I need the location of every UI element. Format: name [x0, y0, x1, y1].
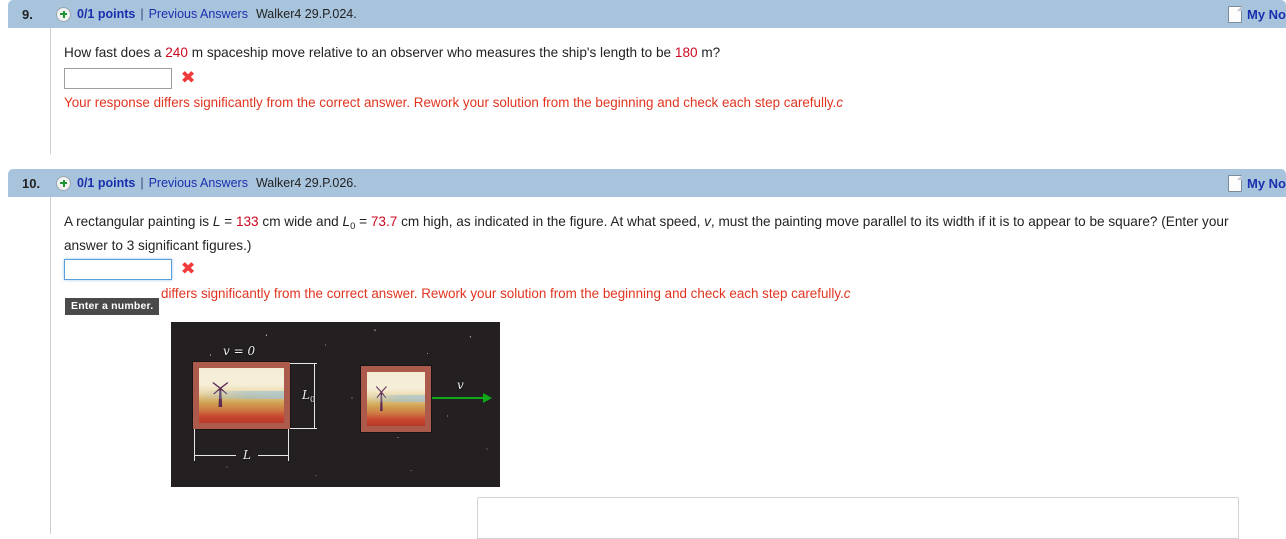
width-dim-left-tick — [194, 429, 195, 461]
incorrect-x-icon-10: ✖ — [181, 261, 196, 278]
prompt-9-part3: m? — [698, 45, 721, 60]
prompt-10-sym2: L — [343, 214, 351, 229]
figure-label-height: L0 — [302, 388, 315, 404]
velocity-arrow-head — [483, 393, 492, 403]
prompt-9-value1: 240 — [165, 45, 188, 60]
height-dim-bottom-tick — [290, 428, 317, 429]
my-notes-label-10: My Notes — [1247, 176, 1286, 191]
question-9-prompt: How fast does a 240 m spaceship move rel… — [51, 28, 1274, 63]
question-9-error-message: Your response differs significantly from… — [51, 89, 1286, 113]
note-icon — [1228, 6, 1242, 23]
prompt-10-value2: 73.7 — [371, 214, 397, 229]
figure-painting-at-rest — [193, 362, 290, 429]
error-9-suffix: c — [836, 95, 843, 110]
question-9-book-reference: Walker4 29.P.024. — [256, 7, 357, 21]
prompt-10-value1: 133 — [236, 214, 259, 229]
question-10-header: 10. 0/1 points | Previous Answers Walker… — [8, 169, 1286, 197]
width-dim-right-tick — [288, 429, 289, 461]
answer-input-9[interactable] — [64, 68, 172, 89]
question-10-figure: v = 0 — [51, 304, 1286, 487]
figure-label-rest: v = 0 — [223, 344, 255, 358]
prompt-10-part2: cm wide and — [259, 214, 343, 229]
my-notes-label-9: My Notes — [1247, 7, 1286, 22]
question-10-answer-row: ✖ — [51, 256, 1286, 280]
question-9-answer-row: ✖ — [51, 63, 1286, 89]
prompt-10-sym3: v — [704, 214, 711, 229]
previous-answers-link-10[interactable]: Previous Answers — [149, 176, 248, 190]
question-10-number: 10. — [22, 176, 52, 191]
prompt-10-eq1: = — [220, 214, 236, 229]
prompt-10-eq2: = — [355, 214, 371, 229]
expand-plus-icon[interactable] — [56, 7, 71, 22]
question-10-prompt: A rectangular painting is L = 133 cm wid… — [51, 197, 1274, 256]
question-9-body: How fast does a 240 m spaceship move rel… — [50, 28, 1286, 154]
error-10-suffix: c — [844, 286, 851, 301]
height-dim-top-tick — [290, 363, 317, 364]
figure-starfield-background: v = 0 — [171, 322, 500, 487]
windmill-icon — [211, 379, 230, 408]
my-notes-9[interactable]: My Notes — [1228, 0, 1286, 28]
expand-plus-icon[interactable] — [56, 176, 71, 191]
question-9-separator: | — [140, 7, 143, 21]
velocity-arrow-line — [432, 397, 485, 399]
question-10-error-message: differs significantly from the correct a… — [51, 280, 1286, 304]
incorrect-x-icon-9: ✖ — [181, 70, 196, 87]
previous-answers-link-9[interactable]: Previous Answers — [149, 7, 248, 21]
prompt-9-part1: How fast does a — [64, 45, 165, 60]
windmill-icon — [375, 383, 388, 411]
question-10-separator: | — [140, 176, 143, 190]
prompt-9-part2: m spaceship move relative to an observer… — [188, 45, 675, 60]
figure-label-velocity: v — [457, 378, 464, 392]
height-subscript: 0 — [310, 395, 315, 404]
question-10-body: A rectangular painting is L = 133 cm wid… — [50, 197, 1286, 534]
prompt-10-part1: A rectangular painting is — [64, 214, 213, 229]
question-10-book-reference: Walker4 29.P.026. — [256, 176, 357, 190]
question-9-points: 0/1 points — [77, 7, 135, 21]
height-symbol: L — [302, 388, 310, 402]
question-10-points: 0/1 points — [77, 176, 135, 190]
prompt-10-part3: cm high, as indicated in the figure. At … — [397, 214, 704, 229]
figure-painting-moving — [361, 366, 431, 432]
prompt-9-value2: 180 — [675, 45, 698, 60]
error-10-text: differs significantly from the correct a… — [161, 286, 844, 301]
painting-artwork — [199, 368, 284, 423]
my-notes-10[interactable]: My Notes — [1228, 169, 1286, 197]
figure-label-width: L — [236, 448, 258, 462]
painting-artwork — [367, 372, 425, 426]
question-block-9: 9. 0/1 points | Previous Answers Walker4… — [0, 0, 1286, 154]
question-block-10: 10. 0/1 points | Previous Answers Walker… — [0, 169, 1286, 534]
error-9-text: Your response differs significantly from… — [64, 95, 836, 110]
assignment-page: 9. 0/1 points | Previous Answers Walker4… — [0, 0, 1286, 506]
answer-tooltip-10: Enter a number. — [65, 298, 159, 315]
answer-input-10[interactable] — [64, 259, 172, 280]
question-9-number: 9. — [22, 7, 52, 22]
need-help-panel — [477, 497, 1239, 539]
question-9-header: 9. 0/1 points | Previous Answers Walker4… — [8, 0, 1286, 28]
note-icon — [1228, 175, 1242, 192]
